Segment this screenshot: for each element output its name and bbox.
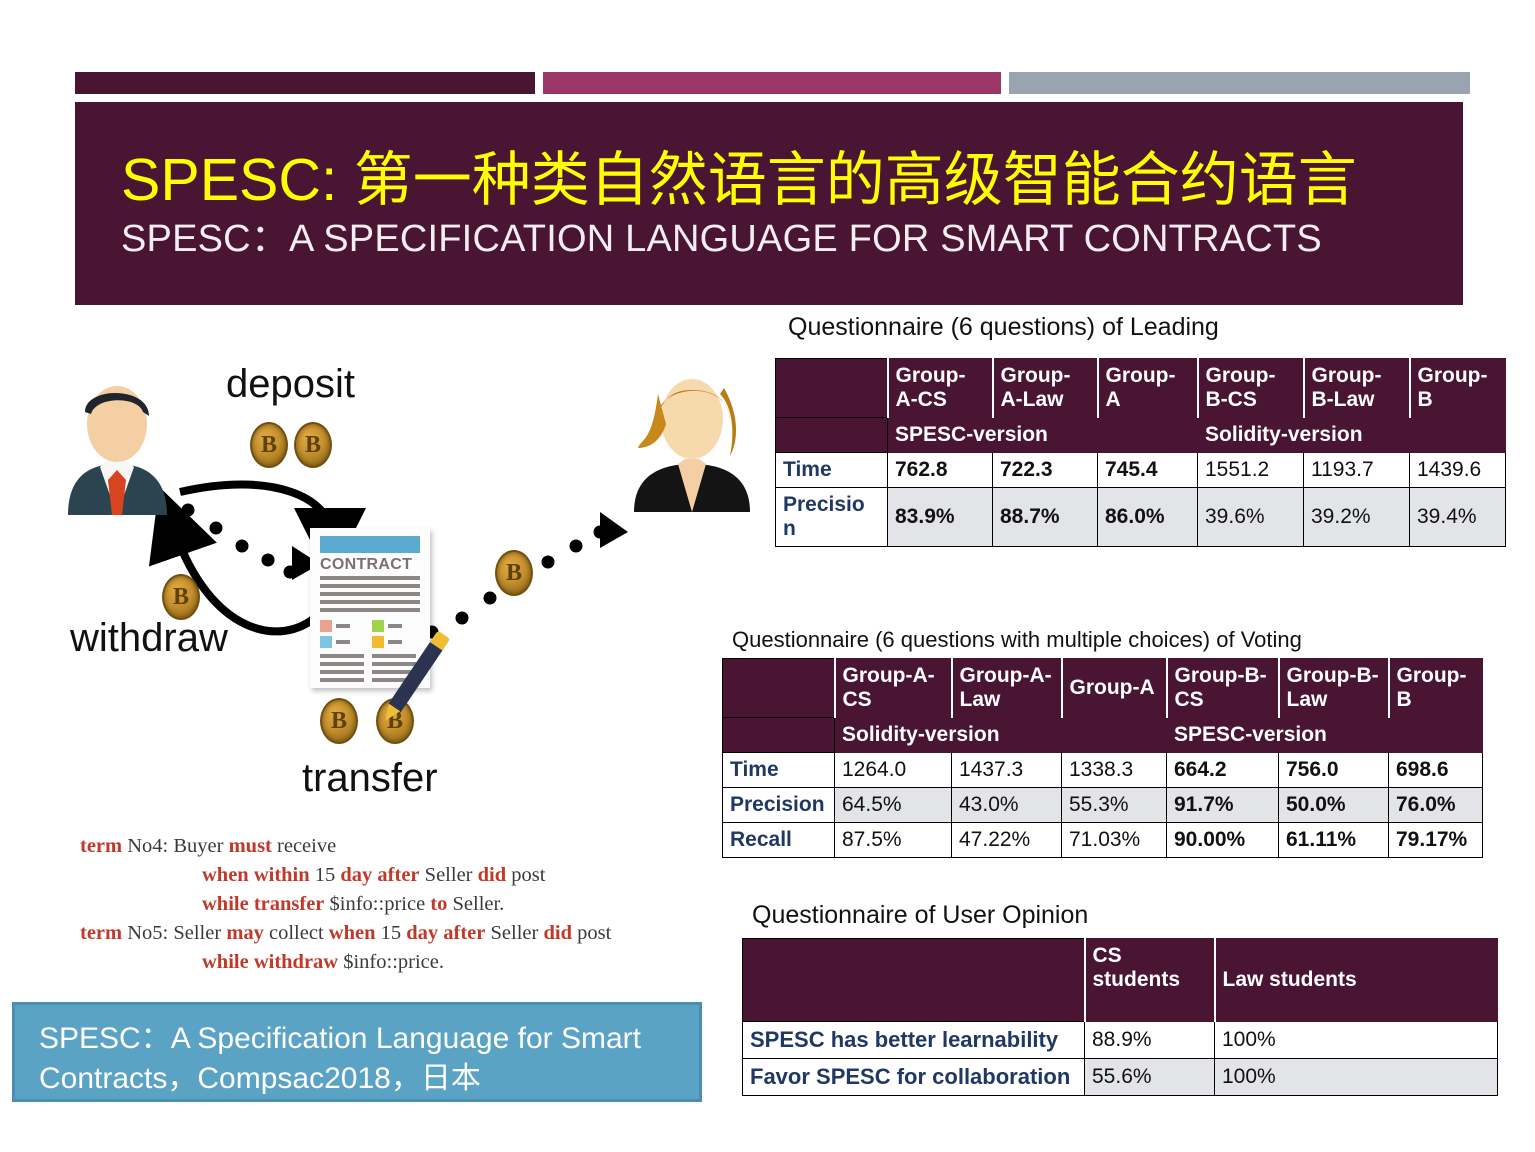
label-withdraw: withdraw (70, 616, 228, 661)
row-label: Precision (723, 788, 835, 823)
column-header: Group-B-CS (1167, 659, 1279, 718)
code-line: while transfer $info::price to Seller. (80, 890, 700, 919)
table-cell: 39.4% (1410, 488, 1506, 547)
seller-avatar (612, 364, 772, 514)
paper-reference-banner: SPESC：A Specification Language for Smart… (12, 1002, 702, 1102)
column-header: Group-A-CS (888, 359, 993, 418)
table-cell: 1439.6 (1410, 453, 1506, 488)
version-corner-cell (723, 718, 835, 753)
table-cell: 1264.0 (835, 753, 952, 788)
table-row: Time1264.01437.31338.3664.2756.0698.6 (723, 753, 1483, 788)
bitcoin-coin: B (250, 422, 288, 468)
accent-bar-purple (75, 72, 535, 94)
column-header: CS students (1085, 939, 1215, 1022)
table-cell: 39.6% (1198, 488, 1304, 547)
page-title-english: SPESC：A SPECIFICATION LANGUAGE FOR SMART… (121, 219, 1463, 261)
table-cell: 43.0% (952, 788, 1062, 823)
table-caption-user-opinion: Questionnaire of User Opinion (752, 901, 1088, 930)
code-line: term No4: Buyer must receive (80, 832, 700, 861)
version-group-label: SPESC-version (888, 418, 1198, 453)
version-corner-cell (776, 418, 888, 453)
column-header: Group-A (1062, 659, 1167, 718)
accent-bar-gray (1009, 72, 1470, 94)
table-cell: 76.0% (1389, 788, 1483, 823)
table-cell: 698.6 (1389, 753, 1483, 788)
row-label: Time (723, 753, 835, 788)
row-label: Precision (776, 488, 888, 547)
table-version-row: SPESC-versionSolidity-version (776, 418, 1506, 453)
column-header: Group-B-CS (1198, 359, 1304, 418)
table-row: SPESC has better learnability88.9%100% (743, 1022, 1498, 1059)
table-leading: Group-A-CSGroup-A-LawGroup-AGroup-B-CSGr… (775, 358, 1506, 547)
table-header-row: Group-A-CSGroup-A-LawGroup-AGroup-B-CSGr… (723, 659, 1483, 718)
column-header: Group-B-Law (1304, 359, 1410, 418)
bitcoin-coin: B (294, 422, 332, 468)
code-line: while withdraw $info::price. (80, 948, 700, 977)
table-cell: 90.00% (1167, 823, 1279, 858)
row-label: Favor SPESC for collaboration (743, 1059, 1085, 1096)
version-group-label: Solidity-version (1198, 418, 1506, 453)
table-corner-cell (776, 359, 888, 418)
row-label: SPESC has better learnability (743, 1022, 1085, 1059)
table-cell: 64.5% (835, 788, 952, 823)
table-cell: 756.0 (1279, 753, 1389, 788)
column-header: Group-A (1098, 359, 1198, 418)
page-title-chinese: SPESC: 第一种类自然语言的高级智能合约语言 (121, 150, 1463, 212)
table-row: Favor SPESC for collaboration55.6%100% (743, 1059, 1498, 1096)
bitcoin-coin: B (320, 698, 358, 744)
buyer-avatar (40, 372, 195, 517)
smart-contract-illustration: deposit withdraw transfer B B B B B B CO… (30, 350, 770, 850)
document-title: CONTRACT (320, 556, 412, 574)
version-group-label: Solidity-version (835, 718, 1167, 753)
table-cell: 100% (1215, 1022, 1498, 1059)
table-version-row: Solidity-versionSPESC-version (723, 718, 1483, 753)
table-corner-cell (743, 939, 1085, 1022)
banner-line-1: SPESC：A Specification Language for Smart (39, 1019, 699, 1059)
column-header: Group-A-Law (952, 659, 1062, 718)
column-header: Group-A-Law (993, 359, 1098, 418)
table-cell: 86.0% (1098, 488, 1198, 547)
table-cell: 88.7% (993, 488, 1098, 547)
column-header: Group-A-CS (835, 659, 952, 718)
table-cell: 55.6% (1085, 1059, 1215, 1096)
code-line: term No5: Seller may collect when 15 day… (80, 919, 700, 948)
table-cell: 1193.7 (1304, 453, 1410, 488)
bitcoin-coin: B (162, 574, 200, 620)
label-transfer: transfer (302, 756, 438, 801)
table-cell: 83.9% (888, 488, 993, 547)
table-row: Time762.8722.3745.41551.21193.71439.6 (776, 453, 1506, 488)
version-group-label: SPESC-version (1167, 718, 1483, 753)
table-voting: Group-A-CSGroup-A-LawGroup-AGroup-B-CSGr… (722, 658, 1483, 858)
table-cell: 61.11% (1279, 823, 1389, 858)
table-cell: 762.8 (888, 453, 993, 488)
table-row: Precision64.5%43.0%55.3%91.7%50.0%76.0% (723, 788, 1483, 823)
table-cell: 722.3 (993, 453, 1098, 488)
column-header: Group-B-Law (1279, 659, 1389, 718)
table-cell: 1338.3 (1062, 753, 1167, 788)
table-cell: 71.03% (1062, 823, 1167, 858)
table-row: Precision83.9%88.7%86.0%39.6%39.2%39.4% (776, 488, 1506, 547)
contract-document: CONTRACT (310, 528, 430, 688)
row-label: Recall (723, 823, 835, 858)
table-cell: 88.9% (1085, 1022, 1215, 1059)
document-header-band (320, 536, 420, 553)
table-cell: 664.2 (1167, 753, 1279, 788)
table-row: Recall87.5%47.22%71.03%90.00%61.11%79.17… (723, 823, 1483, 858)
table-cell: 39.2% (1304, 488, 1410, 547)
bitcoin-coin: B (495, 550, 533, 596)
label-deposit: deposit (226, 362, 355, 407)
table-cell: 91.7% (1167, 788, 1279, 823)
table-header-row: CS studentsLaw students (743, 939, 1498, 1022)
banner-line-2: Contracts，Compsac2018，日本 (39, 1059, 699, 1099)
table-cell: 50.0% (1279, 788, 1389, 823)
code-line: when within 15 day after Seller did post (80, 861, 700, 890)
table-header-row: Group-A-CSGroup-A-LawGroup-AGroup-B-CSGr… (776, 359, 1506, 418)
table-corner-cell (723, 659, 835, 718)
table-cell: 55.3% (1062, 788, 1167, 823)
column-header: Law students (1215, 939, 1498, 1022)
spesc-code-snippet: term No4: Buyer must receivewhen within … (80, 832, 700, 978)
accent-bar-row (75, 72, 1470, 94)
column-header: Group-B (1410, 359, 1506, 418)
table-cell: 87.5% (835, 823, 952, 858)
table-caption-leading: Questionnaire (6 questions) of Leading (788, 313, 1219, 342)
table-cell: 79.17% (1389, 823, 1483, 858)
accent-bar-magenta (543, 72, 1001, 94)
table-cell: 100% (1215, 1059, 1498, 1096)
slide-title-block: SPESC: 第一种类自然语言的高级智能合约语言 SPESC：A SPECIFI… (75, 102, 1463, 305)
table-cell: 1437.3 (952, 753, 1062, 788)
column-header: Group-B (1389, 659, 1483, 718)
table-cell: 47.22% (952, 823, 1062, 858)
table-caption-voting: Questionnaire (6 questions with multiple… (732, 627, 1302, 653)
row-label: Time (776, 453, 888, 488)
table-cell: 1551.2 (1198, 453, 1304, 488)
table-user-opinion: CS studentsLaw studentsSPESC has better … (742, 938, 1498, 1096)
table-cell: 745.4 (1098, 453, 1198, 488)
